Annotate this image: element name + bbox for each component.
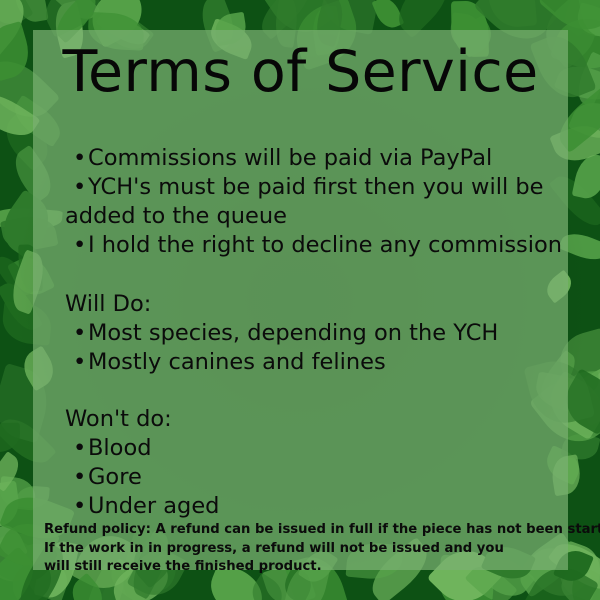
- section-heading: Will Do:: [65, 290, 565, 319]
- list-item: •Commissions will be paid via PayPal: [65, 144, 565, 173]
- list-item-continuation: added to the queue: [65, 202, 565, 231]
- section-intro: •Commissions will be paid via PayPal•YCH…: [65, 144, 565, 260]
- bullet-icon: •: [73, 319, 86, 348]
- bullet-icon: •: [73, 434, 86, 463]
- section-wont-do: Won't do:•Blood•Gore•Under aged: [65, 405, 565, 521]
- bullet-icon: •: [73, 463, 86, 492]
- bullet-icon: •: [73, 492, 86, 521]
- bullet-icon: •: [73, 231, 86, 260]
- list-item: •Under aged: [65, 492, 565, 521]
- refund-policy-line: will still receive the finished product.: [44, 558, 564, 577]
- section-heading: Won't do:: [65, 405, 565, 434]
- terms-of-service-image: Terms of Service •Commissions will be pa…: [0, 0, 600, 600]
- list-item: •I hold the right to decline any commiss…: [65, 231, 565, 260]
- bullet-icon: •: [73, 348, 86, 377]
- list-item: •Mostly canines and felines: [65, 348, 565, 377]
- list-item: •YCH's must be paid first then you will …: [65, 173, 565, 202]
- list-item: •Most species, depending on the YCH: [65, 319, 565, 348]
- list-item: •Gore: [65, 463, 565, 492]
- refund-policy-text: Refund policy: A refund can be issued in…: [44, 521, 564, 577]
- content-layer: Terms of Service •Commissions will be pa…: [0, 0, 600, 600]
- bullet-icon: •: [73, 173, 86, 202]
- section-will-do: Will Do:•Most species, depending on the …: [65, 290, 565, 377]
- page-title: Terms of Service: [33, 44, 568, 101]
- list-item: •Blood: [65, 434, 565, 463]
- refund-policy-line: Refund policy: A refund can be issued in…: [44, 521, 564, 540]
- refund-policy-line: If the work in in progress, a refund wil…: [44, 540, 564, 559]
- bullet-icon: •: [73, 144, 86, 173]
